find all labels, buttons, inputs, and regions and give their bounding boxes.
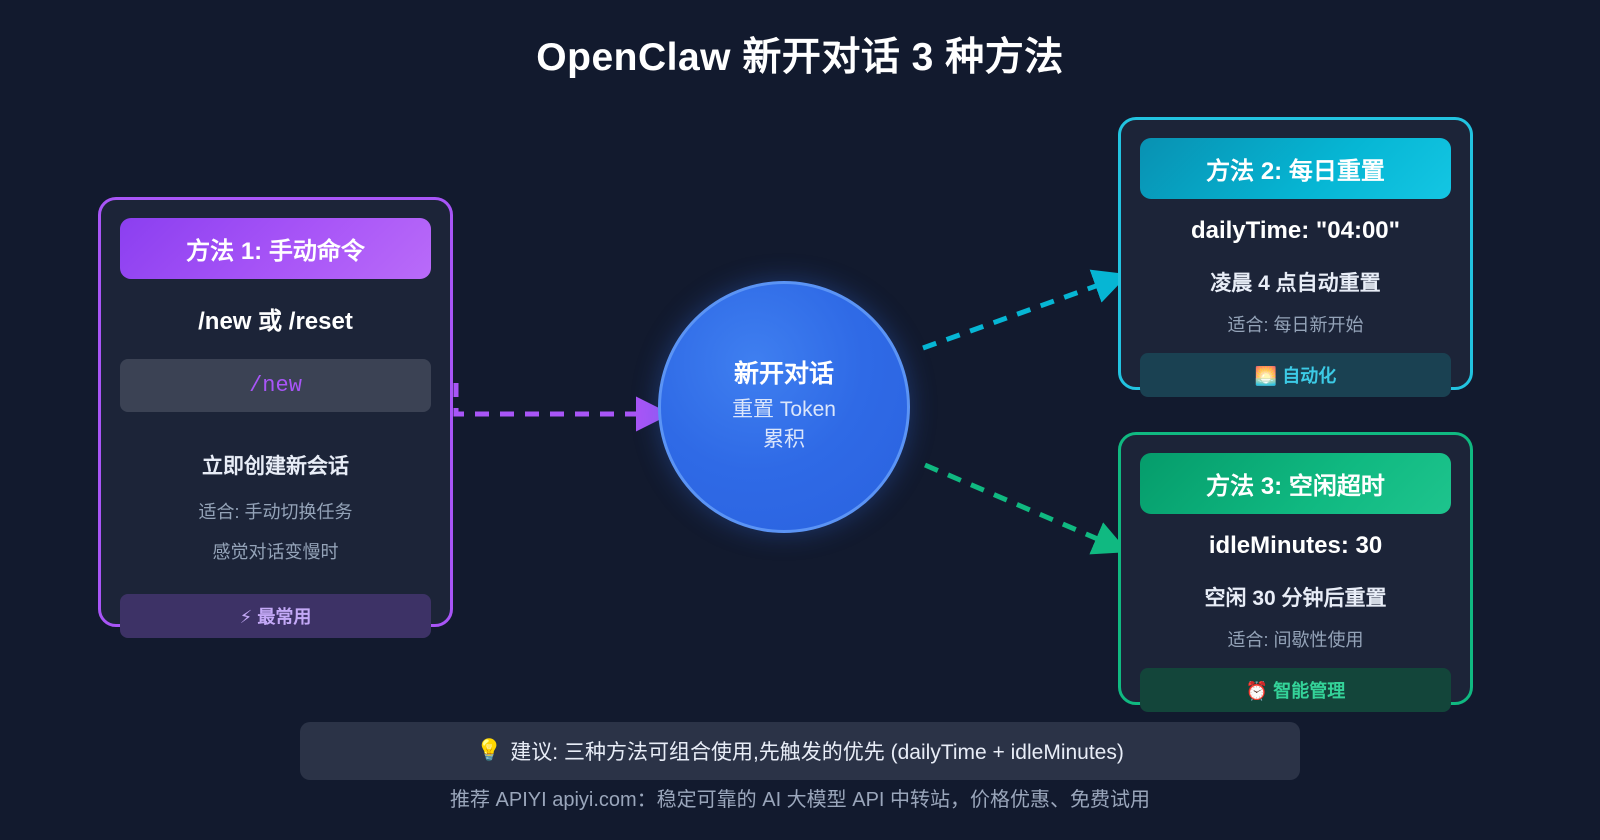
method-1-command: /new 或 /reset (198, 301, 353, 336)
method-1-note-1: 适合: 手动切换任务 (198, 498, 352, 524)
method-3-description: 空闲 30 分钟后重置 (1204, 582, 1386, 612)
method-2-description: 凌晨 4 点自动重置 (1210, 267, 1380, 297)
hub-subtitle-line2: 累积 (732, 425, 836, 455)
method-1-badge: ⚡ 最常用 (120, 594, 431, 638)
connector-hub-to-method3 (925, 465, 1121, 549)
lightbulb-icon: 💡 (476, 739, 502, 763)
hub-subtitle-line1: 重置 Token (732, 395, 836, 425)
method-2-note: 适合: 每日新开始 (1227, 311, 1363, 337)
method-card-manual-command[interactable]: 方法 1: 手动命令 /new 或 /reset /new 立即创建新会话 适合… (98, 197, 453, 627)
method-1-header: 方法 1: 手动命令 (120, 218, 431, 279)
method-card-idle-timeout[interactable]: 方法 3: 空闲超时 idleMinutes: 30 空闲 30 分钟后重置 适… (1118, 432, 1473, 705)
method-1-badge-label: 最常用 (257, 607, 311, 627)
method-2-badge-label: 自动化 (1282, 366, 1336, 386)
sunrise-icon: 🌅 (1255, 366, 1277, 386)
method-3-config: idleMinutes: 30 (1209, 532, 1382, 560)
method-1-description: 立即创建新会话 (202, 450, 349, 480)
connector-method1-to-hub (456, 383, 663, 414)
method-3-header: 方法 3: 空闲超时 (1140, 453, 1451, 514)
method-1-code-sample[interactable]: /new (120, 359, 431, 412)
method-1-note-2: 感觉对话变慢时 (213, 538, 339, 564)
diagram-canvas: OpenClaw 新开对话 3 种方法 新开对话 重置 Token 累积 (0, 0, 1600, 840)
hub-title: 新开对话 (734, 359, 834, 389)
method-2-config: dailyTime: "04:00" (1191, 217, 1400, 245)
lightning-icon: ⚡ (240, 607, 253, 627)
footer-credit: 推荐 APIYI apiyi.com：稳定可靠的 AI 大模型 API 中转站，… (0, 783, 1600, 812)
connector-hub-to-method2 (923, 277, 1121, 348)
method-2-header: 方法 2: 每日重置 (1140, 138, 1451, 199)
method-3-badge: ⏰ 智能管理 (1140, 668, 1451, 712)
tip-bar: 💡 建议: 三种方法可组合使用,先触发的优先 (dailyTime + idle… (300, 722, 1300, 780)
method-2-badge: 🌅 自动化 (1140, 353, 1451, 397)
tip-text: 建议: 三种方法可组合使用,先触发的优先 (dailyTime + idleMi… (510, 736, 1124, 766)
method-3-note: 适合: 间歇性使用 (1227, 626, 1363, 652)
hub-node[interactable]: 新开对话 重置 Token 累积 (658, 281, 910, 533)
method-3-badge-label: 智能管理 (1273, 681, 1345, 701)
page-title: OpenClaw 新开对话 3 种方法 (0, 26, 1600, 82)
hub-subtitle: 重置 Token 累积 (732, 395, 836, 456)
alarm-clock-icon: ⏰ (1246, 681, 1268, 701)
method-card-daily-reset[interactable]: 方法 2: 每日重置 dailyTime: "04:00" 凌晨 4 点自动重置… (1118, 117, 1473, 390)
